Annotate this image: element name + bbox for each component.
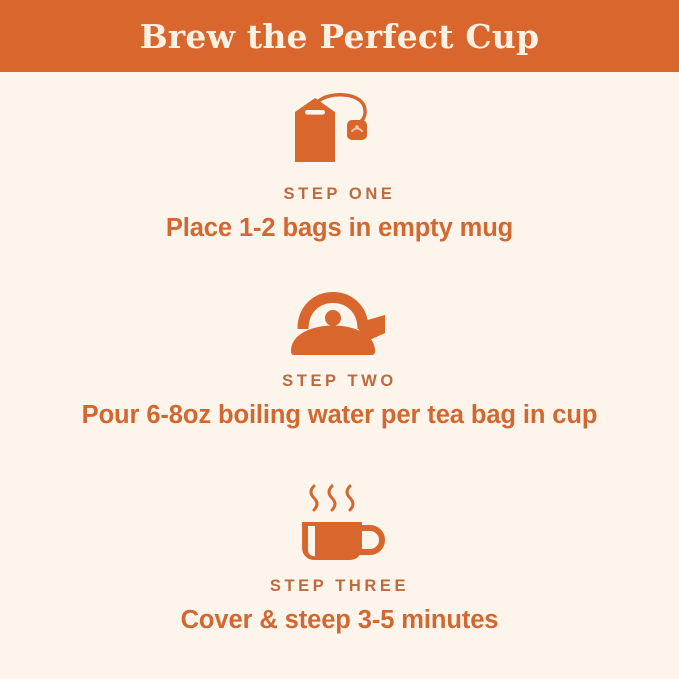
step-label: STEP TWO bbox=[282, 373, 397, 390]
step-label: STEP THREE bbox=[270, 578, 409, 595]
step-item: STEP TWO Pour 6-8oz boiling water per te… bbox=[0, 277, 679, 430]
page-title: Brew the Perfect Cup bbox=[140, 20, 540, 53]
step-item: STEP ONE Place 1-2 bags in empty mug bbox=[0, 90, 679, 243]
step-text: Place 1-2 bags in empty mug bbox=[166, 213, 513, 243]
step-text: Pour 6-8oz boiling water per tea bag in … bbox=[82, 400, 598, 430]
tea-bag-icon bbox=[285, 90, 395, 172]
header-banner: Brew the Perfect Cup bbox=[0, 0, 679, 72]
step-label: STEP ONE bbox=[284, 186, 396, 203]
steps-list: STEP ONE Place 1-2 bags in empty mug bbox=[0, 72, 679, 679]
infographic-page: Brew the Perfect Cup STEP ONE bbox=[0, 0, 679, 679]
step-text: Cover & steep 3-5 minutes bbox=[181, 605, 499, 635]
kettle-icon bbox=[281, 277, 399, 359]
steaming-mug-icon bbox=[288, 482, 392, 564]
step-item: STEP THREE Cover & steep 3-5 minutes bbox=[0, 482, 679, 635]
